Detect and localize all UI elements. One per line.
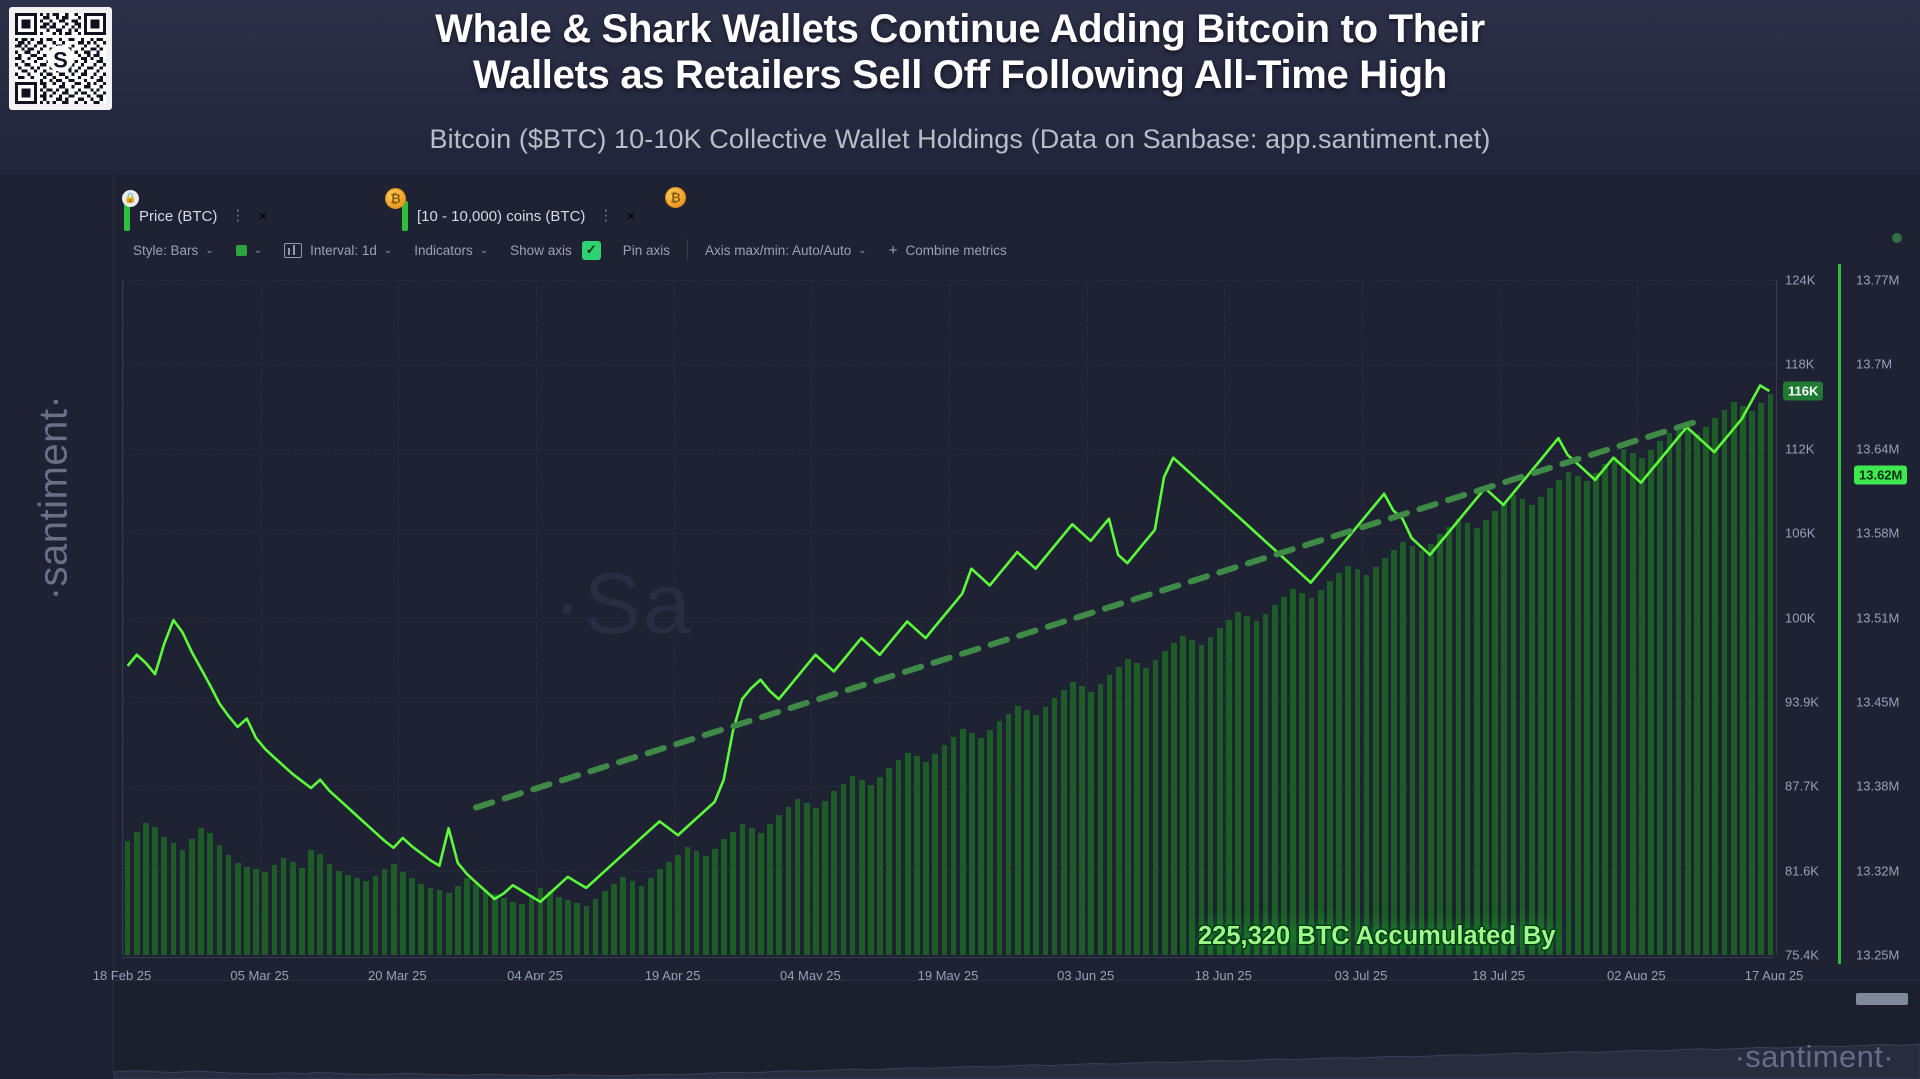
chart-panel: 🔒 Price (BTC) ⋮ × ₿ [10 - 10,000) coins … bbox=[114, 175, 1920, 1079]
interval-bars-icon bbox=[284, 243, 302, 258]
metric-chip-price[interactable]: 🔒 Price (BTC) ⋮ × bbox=[124, 201, 267, 231]
line-series-layer bbox=[123, 280, 1774, 955]
y-axis-current-value-badge: 116K bbox=[1783, 382, 1823, 401]
page-subtitle: Bitcoin ($BTC) 10-10K Collective Wallet … bbox=[160, 124, 1760, 155]
chart-plot-area[interactable]: ·Sa 225,320 BTC Accumulated By 10-10K BT… bbox=[122, 280, 1774, 955]
color-dropdown[interactable]: ⌄ bbox=[225, 237, 273, 263]
metric-label-coins: [10 - 10,000) coins (BTC) bbox=[417, 208, 585, 225]
toolbar-divider bbox=[687, 239, 688, 261]
trend-dashed-line bbox=[476, 419, 1705, 808]
metric-close-price[interactable]: × bbox=[258, 208, 267, 225]
y-axis-current-value-badge: 13.62M bbox=[1854, 465, 1907, 484]
combine-metrics-button[interactable]: + Combine metrics bbox=[878, 237, 1018, 263]
combine-metrics-label: Combine metrics bbox=[905, 243, 1006, 258]
pin-axis-label: Pin axis bbox=[623, 243, 670, 258]
metric-kebab-price[interactable]: ⋮ bbox=[230, 212, 244, 220]
page-title: Whale & Shark Wallets Continue Adding Bi… bbox=[160, 6, 1760, 98]
style-label: Style: Bars bbox=[133, 243, 198, 258]
chevron-down-icon-indicators: ⌄ bbox=[480, 245, 488, 256]
lock-icon: 🔒 bbox=[122, 190, 139, 207]
pin-axis-toggle[interactable]: Pin axis bbox=[612, 237, 681, 263]
y-axis-tick-label: 13.51M bbox=[1856, 610, 1899, 625]
y-axis-supply: 13.77M13.7M13.64M13.58M13.51M13.45M13.38… bbox=[1848, 280, 1916, 955]
indicators-label: Indicators bbox=[414, 243, 473, 258]
indicators-dropdown[interactable]: Indicators ⌄ bbox=[403, 237, 499, 263]
y-axis-tick-label: 100K bbox=[1785, 610, 1815, 625]
y-axis-tick-label: 13.32M bbox=[1856, 863, 1899, 878]
y-axis-tick-label: 13.25M bbox=[1856, 948, 1899, 963]
y-axis-tick-label: 93.9K bbox=[1785, 694, 1819, 709]
chart-overview-strip[interactable]: ·santiment· bbox=[114, 980, 1920, 1079]
metric-label-price: Price (BTC) bbox=[139, 208, 217, 225]
overview-area-chart bbox=[114, 1019, 1920, 1079]
annotation-line2: 10-10K BTC Wallets Since bbox=[1198, 954, 1668, 955]
show-axis-label: Show axis bbox=[510, 243, 572, 258]
axis-maxmin-dropdown[interactable]: Axis max/min: Auto/Auto ⌄ bbox=[694, 237, 878, 263]
bitcoin-coin-icon: ₿ bbox=[385, 188, 406, 209]
chevron-down-icon-axis: ⌄ bbox=[858, 245, 866, 256]
y-axis-tick-label: 13.64M bbox=[1856, 441, 1899, 456]
chevron-down-icon-interval: ⌄ bbox=[384, 245, 392, 256]
price-line bbox=[128, 386, 1770, 902]
y-axis-tick-label: 13.45M bbox=[1856, 694, 1899, 709]
metric-close-coins[interactable]: × bbox=[626, 208, 635, 225]
left-watermark-rail: ·santiment· bbox=[0, 175, 114, 1079]
interval-label: Interval: 1d bbox=[310, 243, 377, 258]
chart-annotation: 225,320 BTC Accumulated By 10-10K BTC Wa… bbox=[1198, 920, 1668, 955]
page-title-line2: Wallets as Retailers Sell Off Following … bbox=[160, 52, 1760, 98]
show-axis-toggle[interactable]: Show axis ✓ bbox=[499, 237, 612, 263]
annotation-line1: 225,320 BTC Accumulated By bbox=[1198, 920, 1668, 954]
y-axis-tick-label: 118K bbox=[1785, 357, 1814, 372]
santiment-watermark-left: ·santiment· bbox=[32, 348, 77, 648]
panel-status-dot bbox=[1892, 233, 1902, 243]
axis-maxmin-label: Axis max/min: Auto/Auto bbox=[705, 243, 851, 258]
header-banner: S Whale & Shark Wallets Continue Adding … bbox=[0, 0, 1920, 175]
metric-chip-coins[interactable]: ₿ [10 - 10,000) coins (BTC) ⋮ × ₿ bbox=[402, 201, 635, 231]
bitcoin-coin-icon-secondary: ₿ bbox=[665, 187, 686, 208]
y-axis-tick-label: 13.77M bbox=[1856, 273, 1899, 288]
style-dropdown[interactable]: Style: Bars ⌄ bbox=[122, 237, 225, 263]
y-axis-tick-label: 112K bbox=[1785, 441, 1814, 456]
chevron-down-icon-color: ⌄ bbox=[254, 245, 262, 256]
santiment-watermark-bottom-right: ·santiment· bbox=[1735, 1039, 1894, 1075]
page-title-line1: Whale & Shark Wallets Continue Adding Bi… bbox=[160, 6, 1760, 52]
qr-center-letter: S bbox=[53, 48, 68, 73]
y-axis-tick-label: 81.6K bbox=[1785, 863, 1819, 878]
y-axis-tick-label: 13.7M bbox=[1856, 357, 1892, 372]
plus-icon: + bbox=[889, 242, 898, 259]
interval-dropdown[interactable]: Interval: 1d ⌄ bbox=[273, 237, 403, 263]
y-axis-tick-label: 75.4K bbox=[1785, 948, 1819, 963]
metric-kebab-coins[interactable]: ⋮ bbox=[598, 212, 612, 220]
y-axis-tick-label: 13.58M bbox=[1856, 526, 1899, 541]
chart-toolbar: Style: Bars ⌄ ⌄ Interval: 1d ⌄ Indicator… bbox=[122, 235, 1018, 265]
y-axis-tick-label: 106K bbox=[1785, 526, 1815, 541]
qr-code-icon[interactable]: S bbox=[9, 7, 112, 110]
chevron-down-icon: ⌄ bbox=[205, 245, 213, 256]
y-axis-tick-label: 13.38M bbox=[1856, 779, 1899, 794]
show-axis-checkbox[interactable]: ✓ bbox=[582, 241, 601, 260]
y-axis-price: 124K118K112K106K100K93.9K87.7K81.6K75.4K… bbox=[1776, 280, 1844, 955]
overview-resize-handle[interactable] bbox=[1856, 993, 1908, 1005]
color-swatch bbox=[236, 245, 247, 256]
y-axis-tick-label: 87.7K bbox=[1785, 779, 1819, 794]
y-axis-tick-label: 124K bbox=[1785, 273, 1815, 288]
qr-code-svg: S bbox=[15, 13, 106, 104]
